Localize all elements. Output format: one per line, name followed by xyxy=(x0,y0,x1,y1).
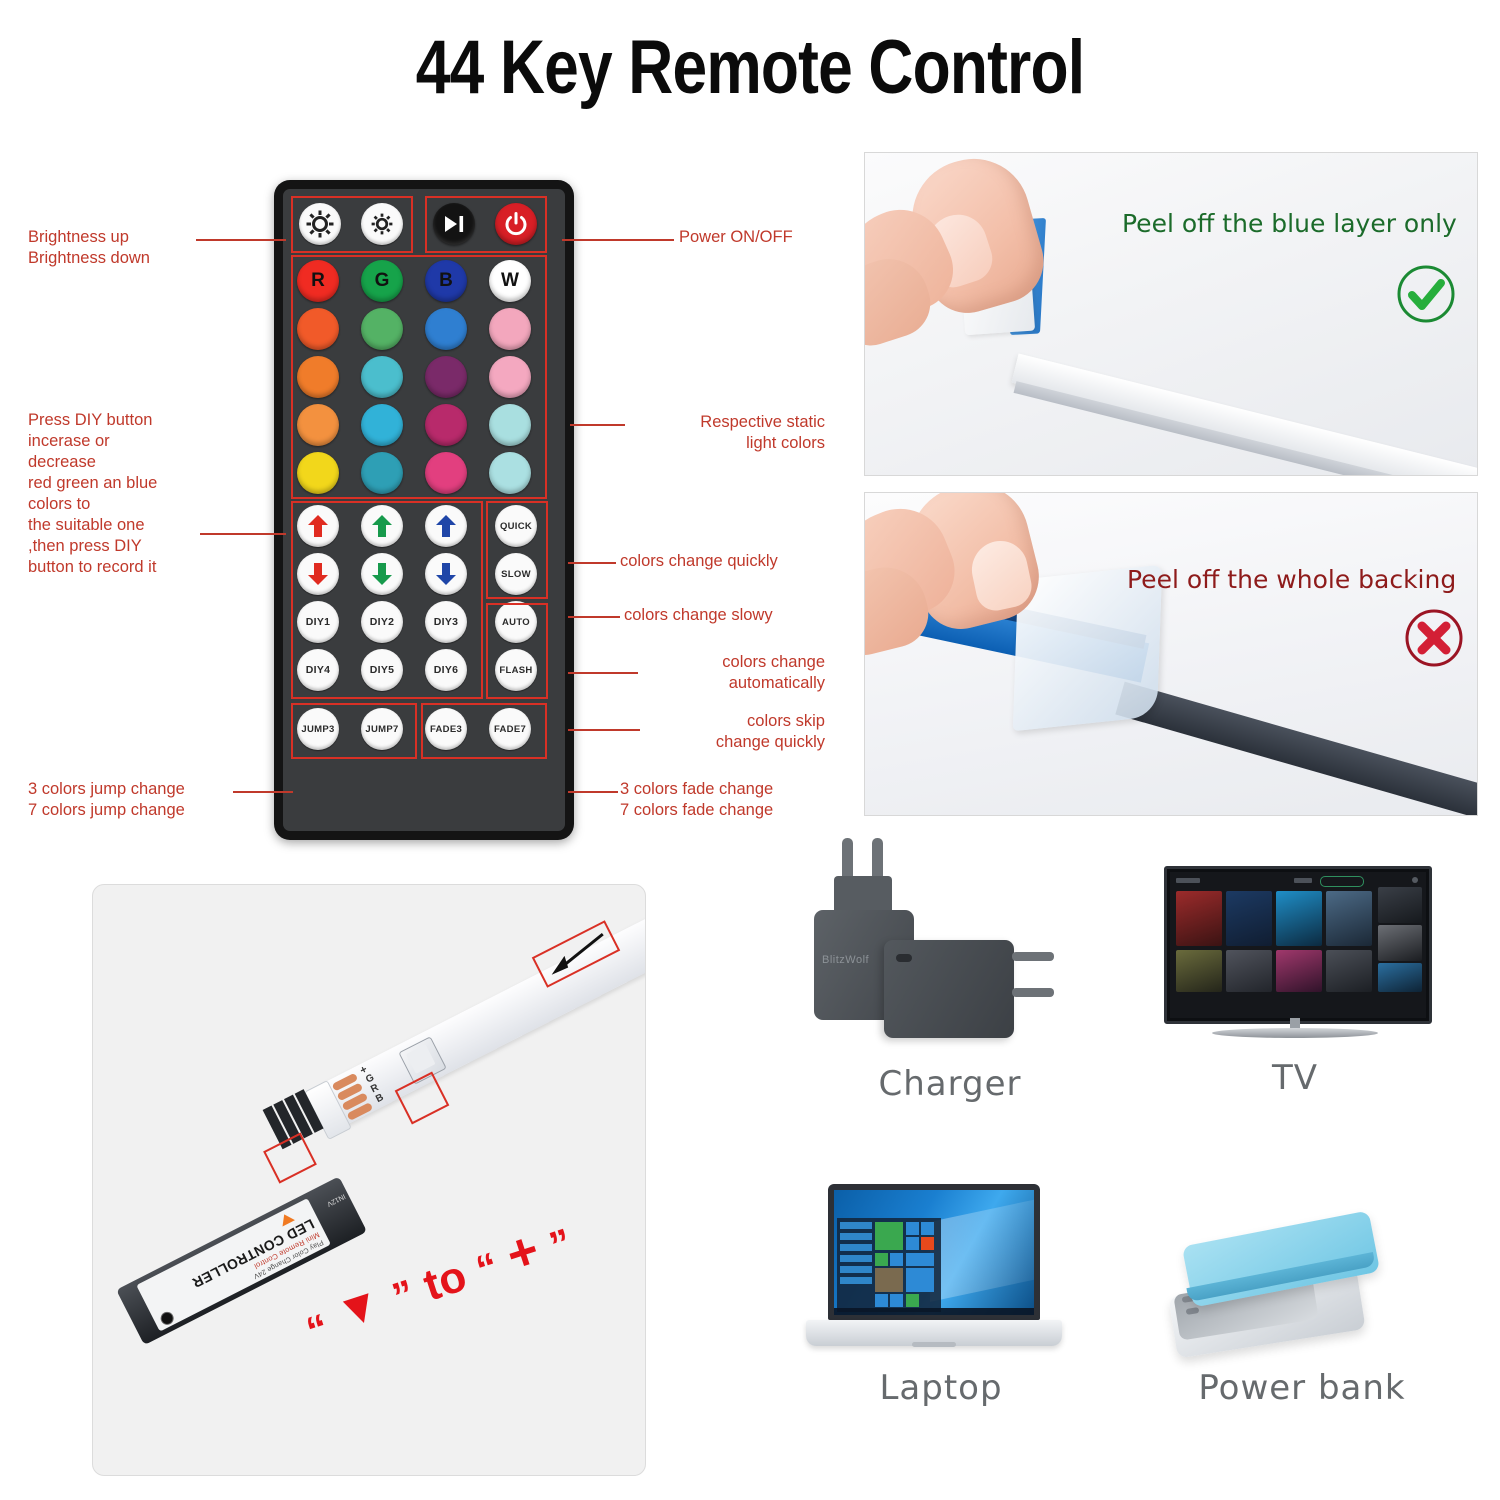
leader-slow xyxy=(568,616,620,618)
tv-topbar xyxy=(1174,875,1422,886)
annotation-jump-line-2: 7 colors jump change xyxy=(28,800,258,821)
laptop-start-menu xyxy=(837,1218,941,1312)
callout-triangle: ▼ xyxy=(329,1276,388,1340)
callout-box-jump xyxy=(291,703,417,759)
tv-topbar-mid xyxy=(1294,878,1312,883)
photo-peel-whole-backing: Peel off the whole backing xyxy=(864,492,1478,816)
annotation-jump: 3 colors jump change 7 colors jump chang… xyxy=(28,779,258,821)
callout-close-quote-1: ” xyxy=(387,1272,420,1320)
tv-side-2 xyxy=(1378,925,1422,961)
leader-flash xyxy=(568,729,640,731)
annotation-flash: colors skip change quickly xyxy=(610,711,825,753)
device-charger-label: Charger xyxy=(800,1064,1100,1104)
tv-hero-4 xyxy=(1326,891,1372,946)
charger-prong-3 xyxy=(1012,952,1054,961)
tv-frame xyxy=(1164,866,1432,1024)
annotation-static-line-2: light colors xyxy=(620,433,825,454)
annotation-brightness-line-1: Brightness up xyxy=(28,227,248,248)
leader-static xyxy=(570,424,625,426)
annotation-diy-line-4: red green an blue xyxy=(28,473,258,494)
tv-hero-1 xyxy=(1176,891,1222,946)
annotation-quick: colors change quickly xyxy=(620,551,850,572)
device-tv: TV xyxy=(1150,862,1440,1112)
annotation-auto-line-1: colors change xyxy=(610,652,825,673)
leader-fade xyxy=(568,791,618,793)
annotation-fade-line-2: 7 colors fade change xyxy=(620,800,870,821)
annotation-diy-line-1: Press DIY button xyxy=(28,410,258,431)
annotation-diy-line-5: colors to xyxy=(28,494,258,515)
leader-quick xyxy=(568,562,616,564)
annotation-flash-line-2: change quickly xyxy=(610,732,825,753)
annotation-flash-line-1: colors skip xyxy=(610,711,825,732)
leader-power xyxy=(562,239,674,241)
check-circle-icon xyxy=(1395,263,1457,325)
page-title: 44 Key Remote Control xyxy=(135,24,1365,111)
callout-box-auto-flash xyxy=(486,603,548,699)
charger-usb-port xyxy=(896,954,912,962)
callout-box-fade xyxy=(421,703,547,759)
tv-hero-3 xyxy=(1276,891,1322,946)
device-laptop: Laptop xyxy=(796,1176,1086,1426)
annotation-quick-text: colors change quickly xyxy=(620,551,850,572)
photo-peel-blue-layer: Peel off the blue layer only xyxy=(864,152,1478,476)
annotation-diy-line-8: button to record it xyxy=(28,557,258,578)
tv-row2-3 xyxy=(1276,950,1322,992)
annotation-fade: 3 colors fade change 7 colors fade chang… xyxy=(620,779,870,821)
annotation-slow: colors change slowy xyxy=(624,605,854,626)
laptop-taskbar xyxy=(834,1308,1034,1315)
pad-label-b: B xyxy=(374,1092,385,1105)
leader-brightness xyxy=(196,239,286,241)
annotation-diy-line-2: incerase or xyxy=(28,431,258,452)
callout-box-static-colors xyxy=(291,255,547,499)
callout-box-power xyxy=(425,196,547,253)
laptop-wallpaper-swoosh xyxy=(930,1194,1034,1302)
charger-brand: BlitzWolf xyxy=(822,954,869,966)
led-strip-connection-panel: + G R B Play Color Change 24V Mini Remot… xyxy=(92,884,646,1476)
laptop-screen xyxy=(834,1190,1034,1315)
tv-hero-2 xyxy=(1226,891,1272,946)
charger-prong-4 xyxy=(1012,988,1054,997)
photo2-caption: Peel off the whole backing xyxy=(1127,565,1456,594)
tv-side-1 xyxy=(1378,887,1422,923)
leader-diy xyxy=(200,533,286,535)
infographic-page: 44 Key Remote Control xyxy=(0,0,1500,1500)
annotation-slow-text: colors change slowy xyxy=(624,605,854,626)
annotation-diy-line-7: ,then press DIY xyxy=(28,536,258,557)
annotation-auto: colors change automatically xyxy=(610,652,825,694)
tv-side-3 xyxy=(1378,963,1422,992)
tv-topbar-dot xyxy=(1412,877,1418,883)
tv-stand-base xyxy=(1212,1028,1378,1038)
tv-topbar-pill xyxy=(1320,876,1364,887)
device-power-bank-label: Power bank xyxy=(1152,1368,1452,1408)
controller-label-sub: Mini Remote Control xyxy=(157,1230,321,1320)
callout-close-quote-2: ” xyxy=(544,1221,577,1269)
photo1-caption: Peel off the blue layer only xyxy=(1122,209,1457,238)
tv-row2-2 xyxy=(1226,950,1272,992)
callout-box-diy xyxy=(291,501,483,699)
tv-row2-1 xyxy=(1176,950,1222,992)
tv-row2-4 xyxy=(1326,950,1372,992)
callout-plus: + xyxy=(499,1221,546,1286)
laptop-lid xyxy=(828,1184,1040,1320)
start-menu-tiles xyxy=(875,1222,937,1308)
device-tv-label: TV xyxy=(1150,1058,1440,1098)
annotation-diy-line-3: decrease xyxy=(28,452,258,473)
annotation-brightness: Brightness up Brightness down xyxy=(28,227,248,269)
device-laptop-label: Laptop xyxy=(796,1368,1086,1408)
remote-keypad-face: RGBW DIY1DIY2DIY3DIY4DIY5DIY6 QUICKSLOWA… xyxy=(283,189,565,831)
annotation-auto-line-2: automatically xyxy=(610,673,825,694)
remote-control: RGBW DIY1DIY2DIY3DIY4DIY5DIY6 QUICKSLOWA… xyxy=(274,180,574,840)
device-charger: BlitzWolf Charger xyxy=(800,836,1100,1126)
start-menu-list xyxy=(840,1222,872,1308)
annotation-static-line-1: Respective static xyxy=(620,412,825,433)
callout-open-quote-1: “ xyxy=(301,1306,334,1354)
annotation-jump-line-1: 3 colors jump change xyxy=(28,779,258,800)
tv-topbar-left xyxy=(1176,878,1200,883)
annotation-brightness-line-2: Brightness down xyxy=(28,248,248,269)
annotation-diy: Press DIY button incerase or decrease re… xyxy=(28,410,258,578)
laptop-trackpad-notch xyxy=(912,1342,956,1347)
callout-box-quick-slow xyxy=(486,501,548,599)
annotation-fade-line-1: 3 colors fade change xyxy=(620,779,870,800)
callout-to: to xyxy=(418,1251,473,1310)
leader-auto xyxy=(568,672,638,674)
leader-jump xyxy=(233,791,293,793)
callout-open-quote-2: “ xyxy=(471,1245,504,1293)
cross-circle-icon xyxy=(1403,607,1465,669)
callout-box-brightness xyxy=(291,196,413,253)
device-power-bank: Power bank xyxy=(1152,1186,1452,1426)
tv-screen xyxy=(1170,872,1426,1018)
annotation-static-colors: Respective static light colors xyxy=(620,412,825,454)
